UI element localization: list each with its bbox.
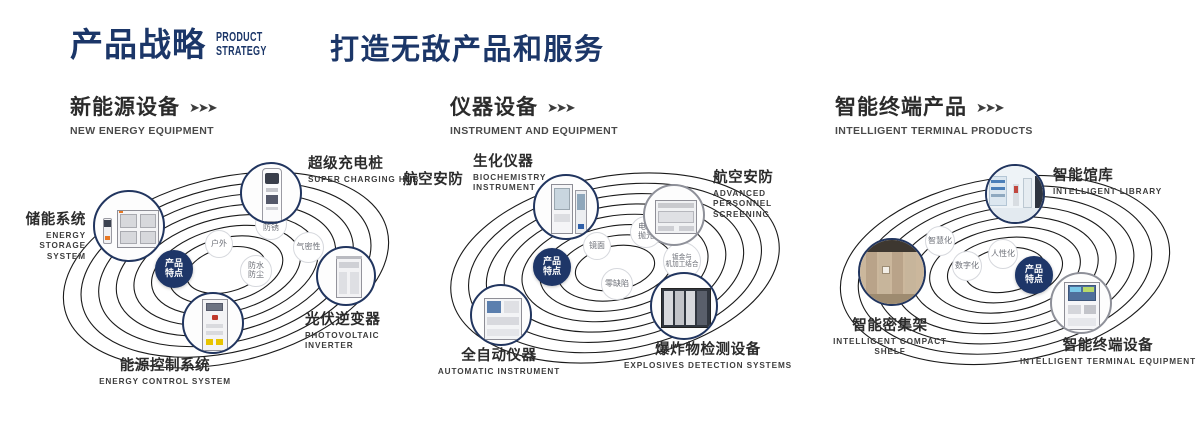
brand-title-en: PRODUCT STRATEGY bbox=[216, 31, 267, 61]
feature-bubble-main[interactable]: 产品 特点 bbox=[1015, 256, 1053, 294]
node-intelligent-terminal-equipment[interactable] bbox=[1050, 272, 1112, 334]
node-automatic-instrument[interactable] bbox=[470, 284, 532, 346]
cluster-new-energy: 产品 特点 户外 防腐 防锈 防水 防尘 气密性 储能系统 ENERGY STO… bbox=[40, 150, 420, 400]
feature-bubble-main[interactable]: 产品 特点 bbox=[533, 248, 571, 286]
caption-intelligent-compact-shelf: 智能密集架 INTELLIGENT COMPACT SHELF bbox=[805, 318, 975, 358]
caption-cn: 智能终端设备 bbox=[1013, 338, 1200, 355]
caption-en: BIOCHEMISTRY INSTRUMENT bbox=[473, 173, 546, 194]
caption-advanced-personnel-screening: 航空安防 ADVANCED PERSONNEL SCREENING bbox=[713, 170, 815, 221]
terminal-kiosk-photo-icon bbox=[1052, 274, 1110, 332]
caption-intelligent-terminal-equipment: 智能终端设备 INTELLIGENT TERMINAL EQUIPMENT bbox=[1013, 338, 1200, 367]
product-strategy-infographic: 产品战略 PRODUCT STRATEGY 打造无敌产品和服务 新能源设备 ➤➤… bbox=[0, 0, 1200, 422]
cluster-instrument: 产品 特点 镜面 电解 抛光 零缺陷 钣金与 机加工结合 生化仪器 BIOCHE… bbox=[425, 150, 815, 400]
node-photovoltaic-inverter[interactable] bbox=[316, 246, 376, 306]
headline: 打造无敌产品和服务 bbox=[330, 35, 605, 64]
caption-en: EXPLOSIVES DETECTION SYSTEMS bbox=[613, 361, 803, 372]
caption-cn: 光伏逆变器 bbox=[305, 312, 420, 329]
screening-machine-photo-icon bbox=[645, 186, 703, 244]
compact-shelf-photo-icon bbox=[860, 240, 924, 304]
chevron-right-icon: ➤➤➤ bbox=[976, 101, 1003, 114]
energy-storage-photo-icon bbox=[95, 192, 163, 260]
caption-en: ENERGY CONTROL SYSTEM bbox=[80, 377, 250, 388]
caption-en: INTELLIGENT LIBRARY bbox=[1053, 187, 1162, 198]
feature-bubble[interactable]: 人性化 bbox=[988, 239, 1018, 269]
section-title-intelligent-terminal: 智能终端产品 ➤➤➤ INTELLIGENT TERMINAL PRODUCTS bbox=[835, 97, 1033, 137]
caption-biochemistry-instrument: 生化仪器 BIOCHEMISTRY INSTRUMENT bbox=[473, 154, 546, 194]
caption-cn: 智能密集架 bbox=[805, 318, 975, 335]
feature-bubble[interactable]: 智慧化 bbox=[925, 226, 955, 256]
inverter-photo-icon bbox=[318, 248, 374, 304]
feature-bubble[interactable]: 数字化 bbox=[952, 251, 982, 281]
caption-en: ADVANCED PERSONNEL SCREENING bbox=[713, 189, 815, 221]
caption-intelligent-library: 智能馆库 INTELLIGENT LIBRARY bbox=[1053, 168, 1162, 197]
cluster-intelligent-terminal: 智慧化 人性化 数字化 产品 特点 智能馆库 INTELLIGENT LIBRA… bbox=[815, 150, 1200, 400]
caption-aviation-security-left: 航空安防 bbox=[403, 172, 463, 189]
node-energy-control-system[interactable] bbox=[182, 292, 244, 354]
caption-cn: 航空安防 bbox=[713, 170, 815, 187]
node-energy-storage-system[interactable] bbox=[93, 190, 165, 262]
caption-en: INTELLIGENT COMPACT SHELF bbox=[805, 337, 975, 358]
caption-cn: 生化仪器 bbox=[473, 154, 546, 171]
node-super-charging-hub[interactable] bbox=[240, 162, 302, 224]
caption-cn: 全自动仪器 bbox=[419, 348, 579, 365]
explosives-detector-photo-icon bbox=[652, 274, 716, 338]
section-title-instrument: 仪器设备 ➤➤➤ INSTRUMENT AND EQUIPMENT bbox=[450, 97, 618, 137]
caption-energy-control-system: 能源控制系统 ENERGY CONTROL SYSTEM bbox=[80, 358, 250, 387]
control-cabinet-photo-icon bbox=[184, 294, 242, 352]
caption-en: ENERGY STORAGE SYSTEM bbox=[0, 231, 86, 263]
caption-cn: 爆炸物检测设备 bbox=[613, 342, 803, 359]
section-title-cn: 智能终端产品 bbox=[835, 97, 967, 118]
brand-title-cn: 产品战略 bbox=[70, 28, 206, 61]
caption-automatic-instrument: 全自动仪器 AUTOMATIC INSTRUMENT bbox=[419, 348, 579, 377]
caption-explosives-detection-systems: 爆炸物检测设备 EXPLOSIVES DETECTION SYSTEMS bbox=[613, 342, 803, 371]
charging-hub-photo-icon bbox=[242, 164, 300, 222]
caption-photovoltaic-inverter: 光伏逆变器 PHOTOVOLTAIC INVERTER bbox=[305, 312, 420, 352]
caption-cn: 能源控制系统 bbox=[80, 358, 250, 375]
caption-en: AUTOMATIC INSTRUMENT bbox=[419, 367, 579, 378]
caption-cn: 超级充电桩 bbox=[308, 156, 419, 173]
feature-bubble[interactable]: 户外 bbox=[205, 230, 233, 258]
node-advanced-personnel-screening[interactable] bbox=[643, 184, 705, 246]
masthead: 产品战略 PRODUCT STRATEGY bbox=[70, 28, 286, 61]
node-explosives-detection-systems[interactable] bbox=[650, 272, 718, 340]
chevron-right-icon: ➤➤➤ bbox=[189, 101, 216, 114]
chevron-right-icon: ➤➤➤ bbox=[547, 101, 574, 114]
node-intelligent-library[interactable] bbox=[985, 164, 1045, 224]
node-intelligent-compact-shelf[interactable] bbox=[858, 238, 926, 306]
feature-bubble[interactable]: 零缺陷 bbox=[601, 268, 633, 300]
section-title-en: INTELLIGENT TERMINAL PRODUCTS bbox=[835, 125, 1033, 137]
caption-cn: 储能系统 bbox=[0, 212, 86, 229]
feature-bubble[interactable]: 防水 防尘 bbox=[240, 255, 272, 287]
caption-en: PHOTOVOLTAIC INVERTER bbox=[305, 331, 420, 352]
caption-cn: 航空安防 bbox=[403, 172, 463, 189]
caption-energy-storage-system: 储能系统 ENERGY STORAGE SYSTEM bbox=[0, 212, 86, 263]
caption-cn: 智能馆库 bbox=[1053, 168, 1162, 185]
caption-en: INTELLIGENT TERMINAL EQUIPMENT bbox=[1013, 357, 1200, 368]
section-title-en: INSTRUMENT AND EQUIPMENT bbox=[450, 125, 618, 137]
section-title-cn: 仪器设备 bbox=[450, 97, 538, 118]
section-title-cn: 新能源设备 bbox=[70, 97, 180, 118]
section-title-new-energy: 新能源设备 ➤➤➤ NEW ENERGY EQUIPMENT bbox=[70, 97, 216, 137]
automatic-instrument-photo-icon bbox=[472, 286, 530, 344]
intelligent-library-photo-icon bbox=[987, 166, 1043, 222]
section-title-en: NEW ENERGY EQUIPMENT bbox=[70, 125, 216, 137]
